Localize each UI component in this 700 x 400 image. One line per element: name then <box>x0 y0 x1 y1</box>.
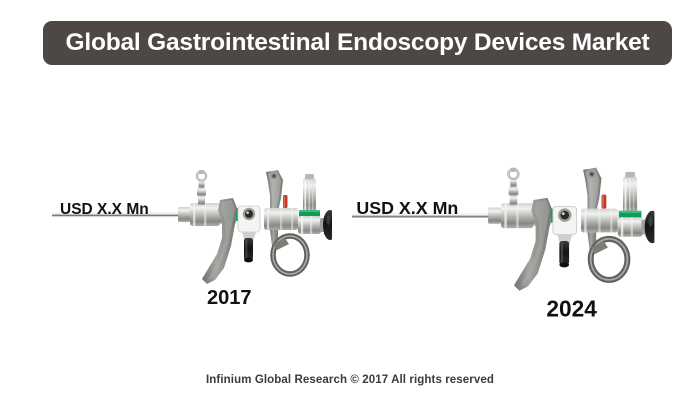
year-label-2017: 2017 <box>207 288 252 308</box>
working-channel-arm <box>266 170 283 212</box>
market-infographic: Global Gastrointestinal Endoscopy Device… <box>0 0 700 400</box>
page-title: Global Gastrointestinal Endoscopy Device… <box>65 31 649 56</box>
year-label-2024: 2024 <box>546 298 596 321</box>
copyright-footer: Infinium Global Research © 2017 All righ… <box>0 374 700 386</box>
luer-connector <box>508 168 518 206</box>
endoscope-icon-2024 <box>352 146 654 297</box>
stopcock-valve <box>244 238 253 262</box>
finger-ring <box>270 230 307 274</box>
working-channel-arm <box>583 168 601 213</box>
eyepiece-knob <box>618 211 655 243</box>
title-banner: Global Gastrointestinal Endoscopy Device… <box>43 21 672 65</box>
stopcock-valve <box>559 241 569 267</box>
value-label-2024: USD X.X Mn <box>356 200 458 218</box>
eyepiece-knob <box>298 210 332 240</box>
mid-barrel <box>581 195 618 233</box>
value-label-2017: USD X.X Mn <box>60 202 149 218</box>
endoscope-icon-2017 <box>52 150 332 290</box>
light-post <box>303 174 316 212</box>
mid-barrel <box>264 195 298 230</box>
lens-port-block <box>553 206 577 245</box>
lens-port-block <box>238 206 260 242</box>
light-post <box>623 172 637 213</box>
finger-ring <box>587 232 627 280</box>
luer-connector <box>197 170 206 205</box>
